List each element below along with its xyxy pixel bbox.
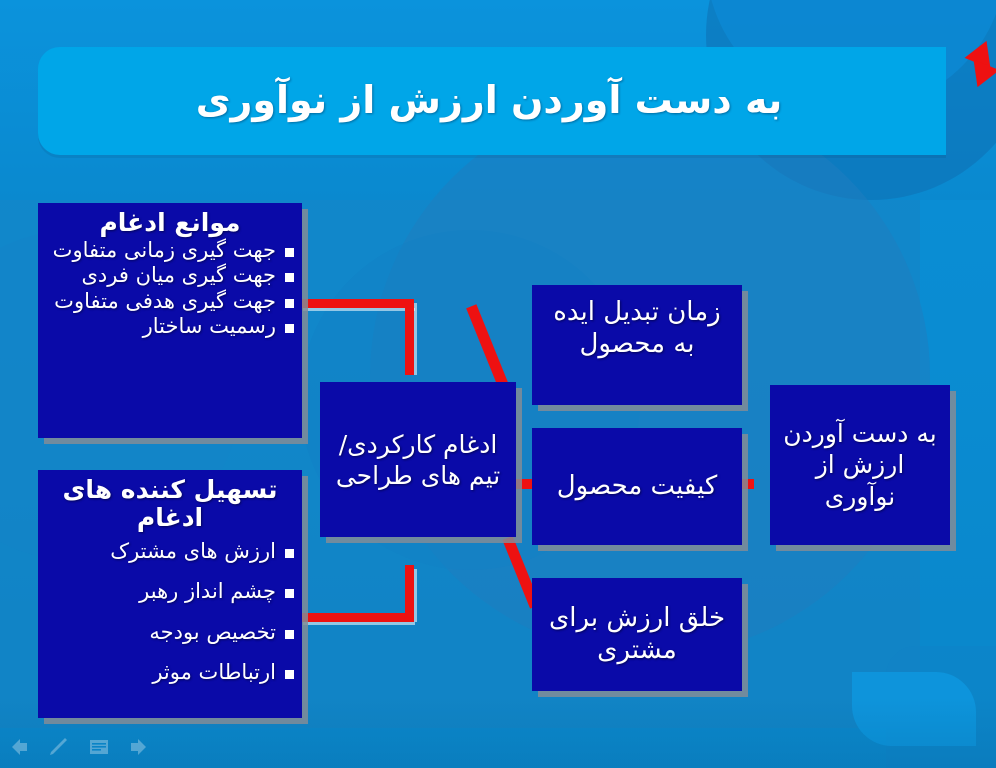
barriers-box: موانع ادغام جهت گیری زمانی متفاوت جهت گی… (38, 203, 302, 438)
list-item-text: جهت گیری میان فردی (82, 263, 277, 287)
bullet-marker-icon (285, 273, 294, 282)
list-item: رسمیت ساختار (44, 315, 298, 340)
facilitators-bullet-list: ارزش های مشترک چشم انداز رهبر تخصیص بودج… (38, 540, 302, 686)
connector-facilitators-horizontal (302, 613, 414, 622)
pen-icon[interactable] (46, 734, 72, 760)
bullet-marker-icon (285, 324, 294, 333)
time-to-market-box: زمان تبدیل ایده به محصول (532, 285, 742, 405)
list-item-text: جهت گیری زمانی متفاوت (53, 238, 276, 262)
connector-facilitators-horizontal-highlight (303, 622, 415, 625)
facilitators-box-title: تسهیل کننده های ادغام (38, 470, 302, 534)
connector-barriers-horizontal (302, 299, 414, 308)
list-item-text: ارزش های مشترک (110, 539, 276, 563)
list-item: ارتباطات موثر (44, 661, 298, 686)
page-title: به دست آوردن ارزش از نوآوری (78, 80, 900, 122)
outcome-box-label: به دست آوردن ارزش از نوآوری (770, 385, 950, 545)
integration-box-label: ادغام کارکردی/ تیم های طراحی (320, 382, 516, 537)
list-item: تخصیص بودجه (44, 621, 298, 661)
bullet-marker-icon (285, 589, 294, 598)
barriers-bullet-list: جهت گیری زمانی متفاوت جهت گیری میان فردی… (38, 239, 302, 340)
bullet-marker-icon (285, 630, 294, 639)
connector-facilitators-vertical (405, 565, 414, 622)
list-item-text: تخصیص بودجه (149, 620, 276, 644)
list-item-text: چشم انداز رهبر (139, 579, 276, 603)
list-item: جهت گیری میان فردی (44, 264, 298, 289)
bullet-marker-icon (285, 248, 294, 257)
slideshow-controls (6, 730, 152, 764)
list-item: ارزش های مشترک (44, 540, 298, 580)
list-item-text: ارتباطات موثر (152, 660, 276, 684)
connector-to-outcome-shaft (742, 479, 754, 489)
menu-icon[interactable] (86, 734, 112, 760)
bullet-marker-icon (285, 299, 294, 308)
list-item: جهت گیری زمانی متفاوت (44, 239, 298, 264)
product-quality-box-label: کیفیت محصول (532, 428, 742, 545)
product-quality-box: کیفیت محصول (532, 428, 742, 545)
connector-barriers-vertical-highlight (414, 303, 417, 375)
list-item-text: جهت گیری هدفی متفاوت (54, 289, 276, 313)
barriers-box-title: موانع ادغام (38, 203, 302, 239)
facilitators-box: تسهیل کننده های ادغام ارزش های مشترک چشم… (38, 470, 302, 718)
time-to-market-box-label: زمان تبدیل ایده به محصول (532, 285, 742, 405)
bullet-marker-icon (285, 549, 294, 558)
arrow-right-icon[interactable] (126, 734, 152, 760)
list-item: چشم انداز رهبر (44, 580, 298, 620)
integration-box: ادغام کارکردی/ تیم های طراحی (320, 382, 516, 537)
connector-barriers-horizontal-highlight (303, 308, 415, 311)
outcome-box: به دست آوردن ارزش از نوآوری (770, 385, 950, 545)
customer-value-box: خلق ارزش برای مشتری (532, 578, 742, 691)
list-item: جهت گیری هدفی متفاوت (44, 290, 298, 315)
arrow-left-icon[interactable] (6, 734, 32, 760)
bullet-marker-icon (285, 670, 294, 679)
list-item-text: رسمیت ساختار (143, 314, 276, 338)
customer-value-box-label: خلق ارزش برای مشتری (532, 578, 742, 691)
slide-title-banner: به دست آوردن ارزش از نوآوری (38, 47, 946, 155)
connector-facilitators-vertical-highlight (414, 569, 417, 622)
connector-barriers-vertical (405, 299, 414, 375)
